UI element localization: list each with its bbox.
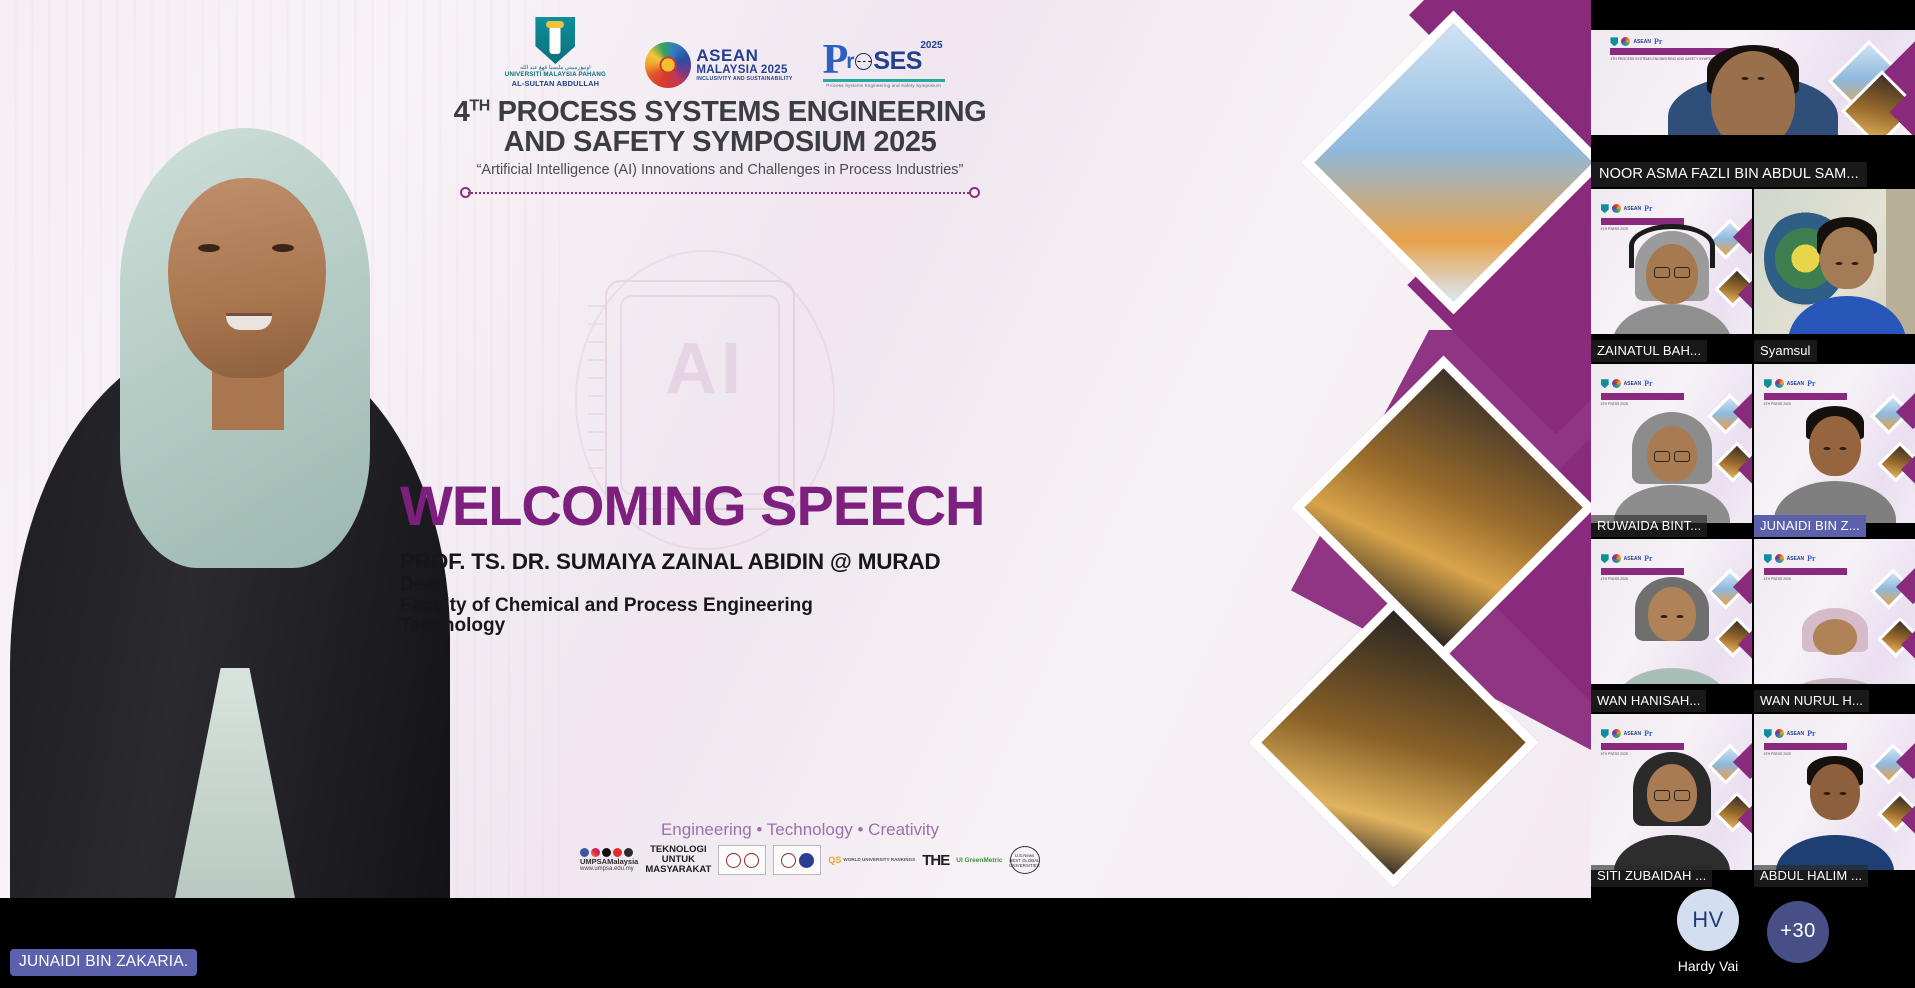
symposium-subtitle: “Artificial Intelligence (AI) Innovation… xyxy=(400,162,1040,178)
participant-name-label: WAN NURUL H... xyxy=(1754,690,1869,712)
speaker-role-line2: Faculty of Chemical and Process Engineer… xyxy=(400,596,940,617)
divider-dot-right xyxy=(969,187,980,198)
qs-mark: QS xyxy=(828,855,841,865)
proses-year: 2025 xyxy=(920,40,942,51)
more-participants-item[interactable]: +30 xyxy=(1767,901,1829,963)
stage-letterbox: JUNAIDI BIN ZAKARIA. xyxy=(0,898,1591,988)
symposium-title-line2: AND SAFETY SYMPOSIUM 2025 xyxy=(504,126,937,158)
participant-tile[interactable]: ASEANPr4TH PSESS 2025 WAN NURUL H... xyxy=(1754,539,1915,714)
participant-name-label-active: JUNAIDI BIN Z... xyxy=(1754,515,1866,537)
asean-line1: ASEAN xyxy=(696,48,792,64)
speaker-role-line1: Dean xyxy=(400,575,940,596)
greenmetric-logo: UI GreenMetric xyxy=(956,857,1002,864)
umpsa-shield-icon xyxy=(535,17,575,64)
youtube-icon xyxy=(613,848,622,857)
participant-tile[interactable]: Syamsul xyxy=(1754,189,1915,364)
usnews-logo: U.S.News BEST GLOBAL UNIVERSITIES xyxy=(1010,846,1040,874)
symposium-ordinal-suffix: TH xyxy=(469,97,490,114)
asean-logo: ASEAN MALAYSIA 2025 INCLUSIVITY AND SUST… xyxy=(645,42,792,88)
participant-name-label: RUWAIDA BINT... xyxy=(1591,515,1707,537)
accreditation-seal-icon-3 xyxy=(781,853,796,868)
slide-tagline: Engineering • Technology • Creativity xyxy=(560,820,1040,840)
slogan-block: TEKNOLOGI UNTUK MASYARAKAT xyxy=(645,845,711,875)
asean-line3: INCLUSIVITY AND SUSTAINABILITY xyxy=(696,76,792,82)
participant-tile-active[interactable]: ASEANPr4TH PSESS 2025 JUNAIDI BIN Z... xyxy=(1754,364,1915,539)
participant-avatar-item[interactable]: HV Hardy Vai xyxy=(1677,889,1739,974)
participant-tile[interactable]: ASEANPr4TH PSESS 2025 RUWAIDA BINT... xyxy=(1591,364,1752,539)
presentation-slide: AI xyxy=(0,0,1591,898)
participant-row: ASEANPr4TH PSESS 2025 WAN HANISAH... ASE… xyxy=(1591,539,1915,714)
accreditation-badge-1 xyxy=(718,845,766,875)
slogan-line3: MASYARAKAT xyxy=(645,865,711,875)
overflow-participants-row: HV Hardy Vai +30 xyxy=(1591,889,1915,988)
participant-tile[interactable]: ASEANPr 4TH PROCESS SYSTEMS ENGINEERING … xyxy=(1591,0,1915,189)
participant-name-label: NOOR ASMA FAZLI BIN ABDUL SAM... xyxy=(1591,162,1867,187)
proses-logo: 2025 P r SES Process Systems Engineering… xyxy=(823,44,945,88)
participant-name-label: Syamsul xyxy=(1754,340,1817,362)
participant-row: ASEANPr4TH PSESS 2025 RUWAIDA BINT... AS… xyxy=(1591,364,1915,539)
slide-header: اونيۏرسيتي مليسيا ڤهڠ عبد الله UNIVERSIT… xyxy=(400,18,1040,198)
participant-row: ASEANPr4TH PSESS 2025 ZAINATUL BAH... xyxy=(1591,189,1915,364)
umpsa-name-line2: AL-SULTAN ABDULLAH xyxy=(512,79,600,88)
active-speaker-label: JUNAIDI BIN ZAKARIA. xyxy=(10,949,197,976)
proses-letters-ses: SES xyxy=(873,49,922,74)
facebook-icon xyxy=(580,848,589,857)
more-participants-badge: +30 xyxy=(1767,901,1829,963)
participant-tile[interactable]: ASEANPr4TH PSESS 2025 WAN HANISAH... xyxy=(1591,539,1752,714)
video-conference-window: AI xyxy=(0,0,1915,988)
speaker-role-line3: Technology xyxy=(400,616,940,637)
slide-speaker-name: PROF. TS. DR. SUMAIYA ZAINAL ABIDIN @ MU… xyxy=(400,549,940,575)
logo-row: اونيۏرسيتي مليسيا ڤهڠ عبد الله UNIVERSIT… xyxy=(400,18,1040,88)
participant-name-label: ZAINATUL BAH... xyxy=(1591,340,1707,362)
proses-waveform-icon xyxy=(855,53,872,70)
slide-footer-logos: UMPSAMalaysia www.umpsa.edu.my TEKNOLOGI… xyxy=(580,845,1040,875)
participant-row: ASEANPr4TH PSESS 2025 SITI ZUBAIDAH ... … xyxy=(1591,714,1915,889)
instagram-icon xyxy=(591,848,600,857)
accreditation-seal-icon xyxy=(726,853,741,868)
tiktok-icon xyxy=(624,848,633,857)
x-twitter-icon xyxy=(602,848,611,857)
accreditation-seal-icon-2 xyxy=(744,853,759,868)
participant-filmstrip[interactable]: ASEANPr 4TH PROCESS SYSTEMS ENGINEERING … xyxy=(1591,0,1915,988)
qs-text: WORLD UNIVERSITY RANKINGS xyxy=(843,857,915,863)
proses-subtitle: Process Systems Engineering and Safety S… xyxy=(823,83,945,88)
participant-name-label: ABDUL HALIM ... xyxy=(1754,865,1868,887)
accreditation-badge-2 xyxy=(773,845,821,875)
participant-tile[interactable]: ASEANPr4TH PSESS 2025 ZAINATUL BAH... xyxy=(1591,189,1752,364)
asean-line2: MALAYSIA 2025 xyxy=(696,64,792,76)
proses-letter-r: r xyxy=(846,51,854,72)
qs-ranking-logo: QS WORLD UNIVERSITY RANKINGS xyxy=(828,855,915,865)
slide-speaker-role: Dean Faculty of Chemical and Process Eng… xyxy=(400,575,940,637)
the-ranking-logo: THE xyxy=(922,852,949,869)
slide-decoration xyxy=(1171,0,1591,898)
participant-name-label: SITI ZUBAIDAH ... xyxy=(1591,865,1712,887)
slide-headline: WELCOMING SPEECH xyxy=(400,478,984,534)
avatar: HV xyxy=(1677,889,1739,951)
ionet-seal-icon xyxy=(799,853,814,868)
proses-letter-p: P xyxy=(823,44,847,78)
avatar-name: Hardy Vai xyxy=(1678,958,1738,974)
asean-swirl-icon xyxy=(645,42,691,88)
umpsa-logo: اونيۏرسيتي مليسيا ڤهڠ عبد الله UNIVERSIT… xyxy=(495,17,615,88)
social-icons xyxy=(580,848,633,857)
shared-screen-stage[interactable]: AI xyxy=(0,0,1591,988)
participant-tile[interactable]: ASEANPr4TH PSESS 2025 ABDUL HALIM ... xyxy=(1754,714,1915,889)
participant-video-person xyxy=(1591,30,1915,135)
website-url: www.umpsa.edu.my xyxy=(580,866,634,872)
umpsa-name-line1: UNIVERSITI MALAYSIA PAHANG xyxy=(505,71,606,79)
ai-watermark-text: AI xyxy=(560,328,850,410)
symposium-title-line1: PROCESS SYSTEMS ENGINEERING xyxy=(490,96,986,128)
participant-tile[interactable]: ASEANPr4TH PSESS 2025 SITI ZUBAIDAH ... xyxy=(1591,714,1752,889)
social-block: UMPSAMalaysia www.umpsa.edu.my xyxy=(580,848,638,872)
participant-name-label: WAN HANISAH... xyxy=(1591,690,1706,712)
divider-line xyxy=(468,192,972,194)
symposium-ordinal: 4 xyxy=(454,96,470,128)
symposium-title: 4TH PROCESS SYSTEMS ENGINEERING AND SAFE… xyxy=(400,98,1040,157)
slide-divider xyxy=(460,187,980,198)
social-handle: UMPSAMalaysia xyxy=(580,857,638,866)
